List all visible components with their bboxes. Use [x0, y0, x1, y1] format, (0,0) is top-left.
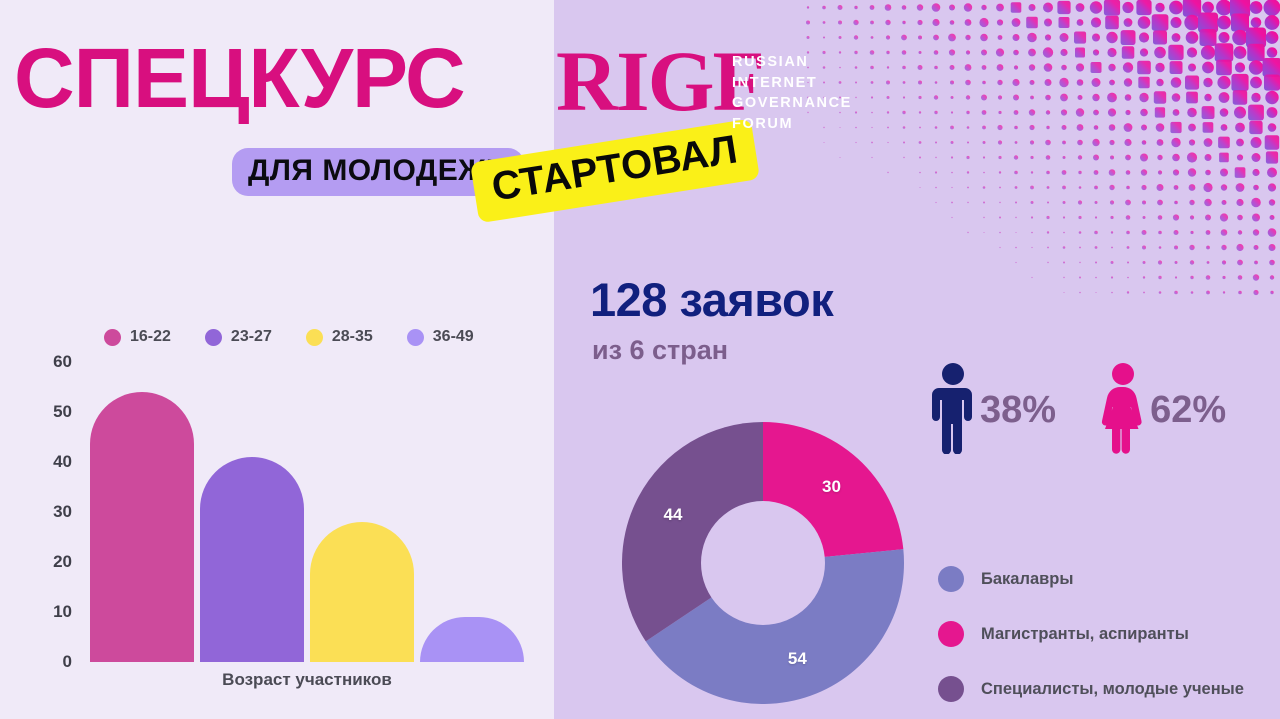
y-axis-tick: 40 [53, 452, 72, 472]
legend-color-dot [407, 329, 424, 346]
bar-chart-plot-area [87, 362, 527, 662]
donut-hole [701, 501, 825, 625]
rigf-subtitle-line-3: GOVERNANCE [732, 93, 852, 114]
bar-36-49 [420, 617, 524, 662]
legend-label: Специалисты, молодые ученые [981, 680, 1244, 699]
legend-color-dot [205, 329, 222, 346]
education-donut-chart: 305444 [622, 422, 904, 704]
y-axis-tick: 30 [53, 502, 72, 522]
donut-legend-item: Бакалавры [938, 566, 1244, 592]
rigf-subtitle: RUSSIAN INTERNET GOVERNANCE FORUM [732, 52, 852, 134]
legend-color-dot [938, 566, 964, 592]
countries-count: из 6 стран [592, 335, 728, 366]
donut-legend-item: Специалисты, молодые ученые [938, 676, 1244, 702]
female-percent: 62% [1150, 389, 1226, 432]
rigf-subtitle-line-4: FORUM [732, 114, 852, 135]
age-bar-chart: 16-2223-2728-3536-49 0102030405060 Возра… [0, 310, 554, 700]
male-stat: 38% [930, 362, 1056, 459]
gender-split: 38% 62% [930, 362, 1226, 459]
female-person-icon [1100, 362, 1146, 459]
legend-label: Магистранты, аспиранты [981, 625, 1189, 644]
legend-color-dot [306, 329, 323, 346]
rigf-subtitle-line-2: INTERNET [732, 73, 852, 94]
legend-color-dot [104, 329, 121, 346]
bar-legend-item: 16-22 [104, 328, 171, 346]
donut-chart-legend: БакалаврыМагистранты, аспирантыСпециалис… [938, 566, 1244, 719]
y-axis-tick: 50 [53, 402, 72, 422]
bar-16-22 [90, 392, 194, 662]
bar-chart-x-label: Возраст участников [87, 670, 527, 690]
legend-label: 23-27 [231, 328, 272, 346]
donut-label-0: 30 [822, 477, 841, 497]
bar-chart-y-axis: 0102030405060 [0, 362, 82, 662]
bar-legend-item: 28-35 [306, 328, 373, 346]
legend-label: 36-49 [433, 328, 474, 346]
y-axis-tick: 0 [63, 652, 72, 672]
bar-28-35 [310, 522, 414, 662]
y-axis-tick: 20 [53, 552, 72, 572]
male-person-icon [930, 362, 976, 459]
legend-color-dot [938, 621, 964, 647]
bar-23-27 [200, 457, 304, 662]
donut-label-2: 44 [664, 505, 683, 525]
legend-label: 16-22 [130, 328, 171, 346]
donut-legend-item: Магистранты, аспиранты [938, 621, 1244, 647]
bar-legend-item: 23-27 [205, 328, 272, 346]
female-stat: 62% [1100, 362, 1226, 459]
applications-count: 128 заявок [590, 272, 833, 327]
y-axis-tick: 60 [53, 352, 72, 372]
donut-label-1: 54 [788, 649, 807, 669]
infographic-canvas: СПЕЦКУРС ДЛЯ МОЛОДЕЖИ СТАРТОВАЛ RIGF RUS… [0, 0, 1280, 719]
rigf-subtitle-line-1: RUSSIAN [732, 52, 852, 73]
bar-legend-item: 36-49 [407, 328, 474, 346]
legend-color-dot [938, 676, 964, 702]
legend-label: 28-35 [332, 328, 373, 346]
male-percent: 38% [980, 389, 1056, 432]
legend-label: Бакалавры [981, 570, 1073, 589]
bar-chart-legend: 16-2223-2728-3536-49 [104, 328, 474, 346]
rigf-logo: RIGF RUSSIAN INTERNET GOVERNANCE FORUM [556, 42, 763, 121]
page-title: СПЕЦКУРС [14, 36, 465, 120]
y-axis-tick: 10 [53, 602, 72, 622]
